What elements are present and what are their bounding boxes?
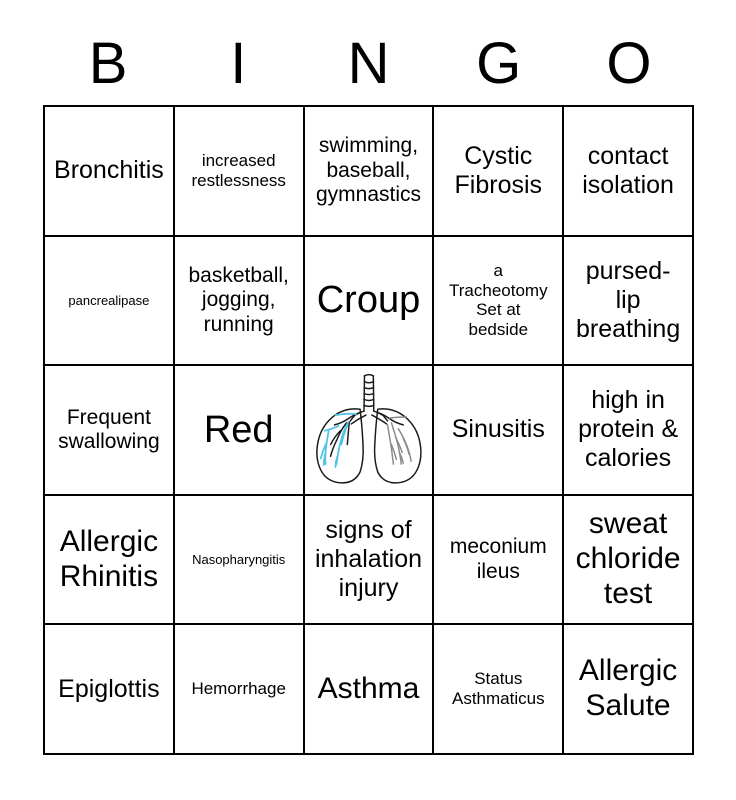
bingo-cell-label: Hemorrhage — [179, 679, 299, 699]
bingo-cell[interactable]: Allergic Salute — [564, 625, 694, 755]
bingo-cell-label: Allergic Rhinitis — [49, 525, 169, 595]
bingo-cell-label: pancrealipase — [49, 293, 169, 308]
header-letter-i: I — [173, 28, 303, 100]
bingo-cell-label: Nasopharyngitis — [179, 552, 299, 567]
bingo-cell[interactable]: high in protein & calories — [564, 366, 694, 496]
bingo-cell-label: Status Asthmaticus — [438, 669, 558, 708]
bingo-cell-label: Croup — [309, 278, 429, 322]
bingo-cell-label: Sinusitis — [438, 415, 558, 444]
bingo-cell[interactable]: Bronchitis — [45, 107, 175, 237]
bingo-cell[interactable]: Sinusitis — [434, 366, 564, 496]
bingo-cell[interactable]: a Tracheotomy Set at bedside — [434, 237, 564, 367]
bingo-cell-label: Red — [179, 408, 299, 452]
bingo-cell[interactable]: Asthma — [305, 625, 435, 755]
header-letter-n: N — [303, 28, 433, 100]
bingo-grid: Bronchitisincreased restlessnessswimming… — [43, 105, 694, 755]
bingo-cell[interactable]: pancrealipase — [45, 237, 175, 367]
bingo-cell[interactable]: Frequent swallowing — [45, 366, 175, 496]
bingo-cell-label: Cystic Fibrosis — [438, 142, 558, 200]
bingo-cell-label: Bronchitis — [49, 156, 169, 185]
bingo-cell[interactable]: Hemorrhage — [175, 625, 305, 755]
bingo-header: B I N G O — [43, 28, 694, 100]
bingo-cell[interactable]: increased restlessness — [175, 107, 305, 237]
bingo-cell-label: Allergic Salute — [568, 654, 688, 724]
bingo-cell-label: sweat chloride test — [568, 507, 688, 611]
bingo-cell-label: Frequent swallowing — [49, 406, 169, 455]
header-letter-g: G — [434, 28, 564, 100]
bingo-cell-label: pursed- lip breathing — [568, 257, 688, 344]
bingo-cell[interactable]: Cystic Fibrosis — [434, 107, 564, 237]
lungs-diagram-icon — [305, 366, 433, 494]
bingo-cell-label: signs of inhalation injury — [309, 516, 429, 603]
bingo-cell[interactable]: contact isolation — [564, 107, 694, 237]
bingo-cell-label: Epiglottis — [49, 675, 169, 704]
bingo-cell[interactable]: sweat chloride test — [564, 496, 694, 626]
bingo-cell[interactable]: signs of inhalation injury — [305, 496, 435, 626]
bingo-cell-label: swimming, baseball, gymnastics — [309, 134, 429, 207]
bingo-cell-label: a Tracheotomy Set at bedside — [438, 261, 558, 340]
bingo-card: B I N G O Bronchitisincreased restlessne… — [0, 0, 736, 800]
bingo-free-space-cell[interactable] — [305, 366, 435, 496]
bingo-cell[interactable]: Status Asthmaticus — [434, 625, 564, 755]
bingo-cell[interactable]: basketball, jogging, running — [175, 237, 305, 367]
bingo-cell[interactable]: Croup — [305, 237, 435, 367]
bingo-cell[interactable]: Epiglottis — [45, 625, 175, 755]
bingo-cell[interactable]: Red — [175, 366, 305, 496]
bingo-cell-label: increased restlessness — [179, 151, 299, 190]
bingo-cell-label: meconium ileus — [438, 535, 558, 584]
bingo-cell[interactable]: swimming, baseball, gymnastics — [305, 107, 435, 237]
bingo-cell-label: contact isolation — [568, 142, 688, 200]
header-letter-o: O — [564, 28, 694, 100]
bingo-cell-label: high in protein & calories — [568, 386, 688, 473]
bingo-cell-label: basketball, jogging, running — [179, 264, 299, 337]
bingo-cell[interactable]: Nasopharyngitis — [175, 496, 305, 626]
bingo-cell-label: Asthma — [309, 672, 429, 707]
bingo-cell[interactable]: pursed- lip breathing — [564, 237, 694, 367]
bingo-cell[interactable]: meconium ileus — [434, 496, 564, 626]
bingo-cell[interactable]: Allergic Rhinitis — [45, 496, 175, 626]
header-letter-b: B — [43, 28, 173, 100]
